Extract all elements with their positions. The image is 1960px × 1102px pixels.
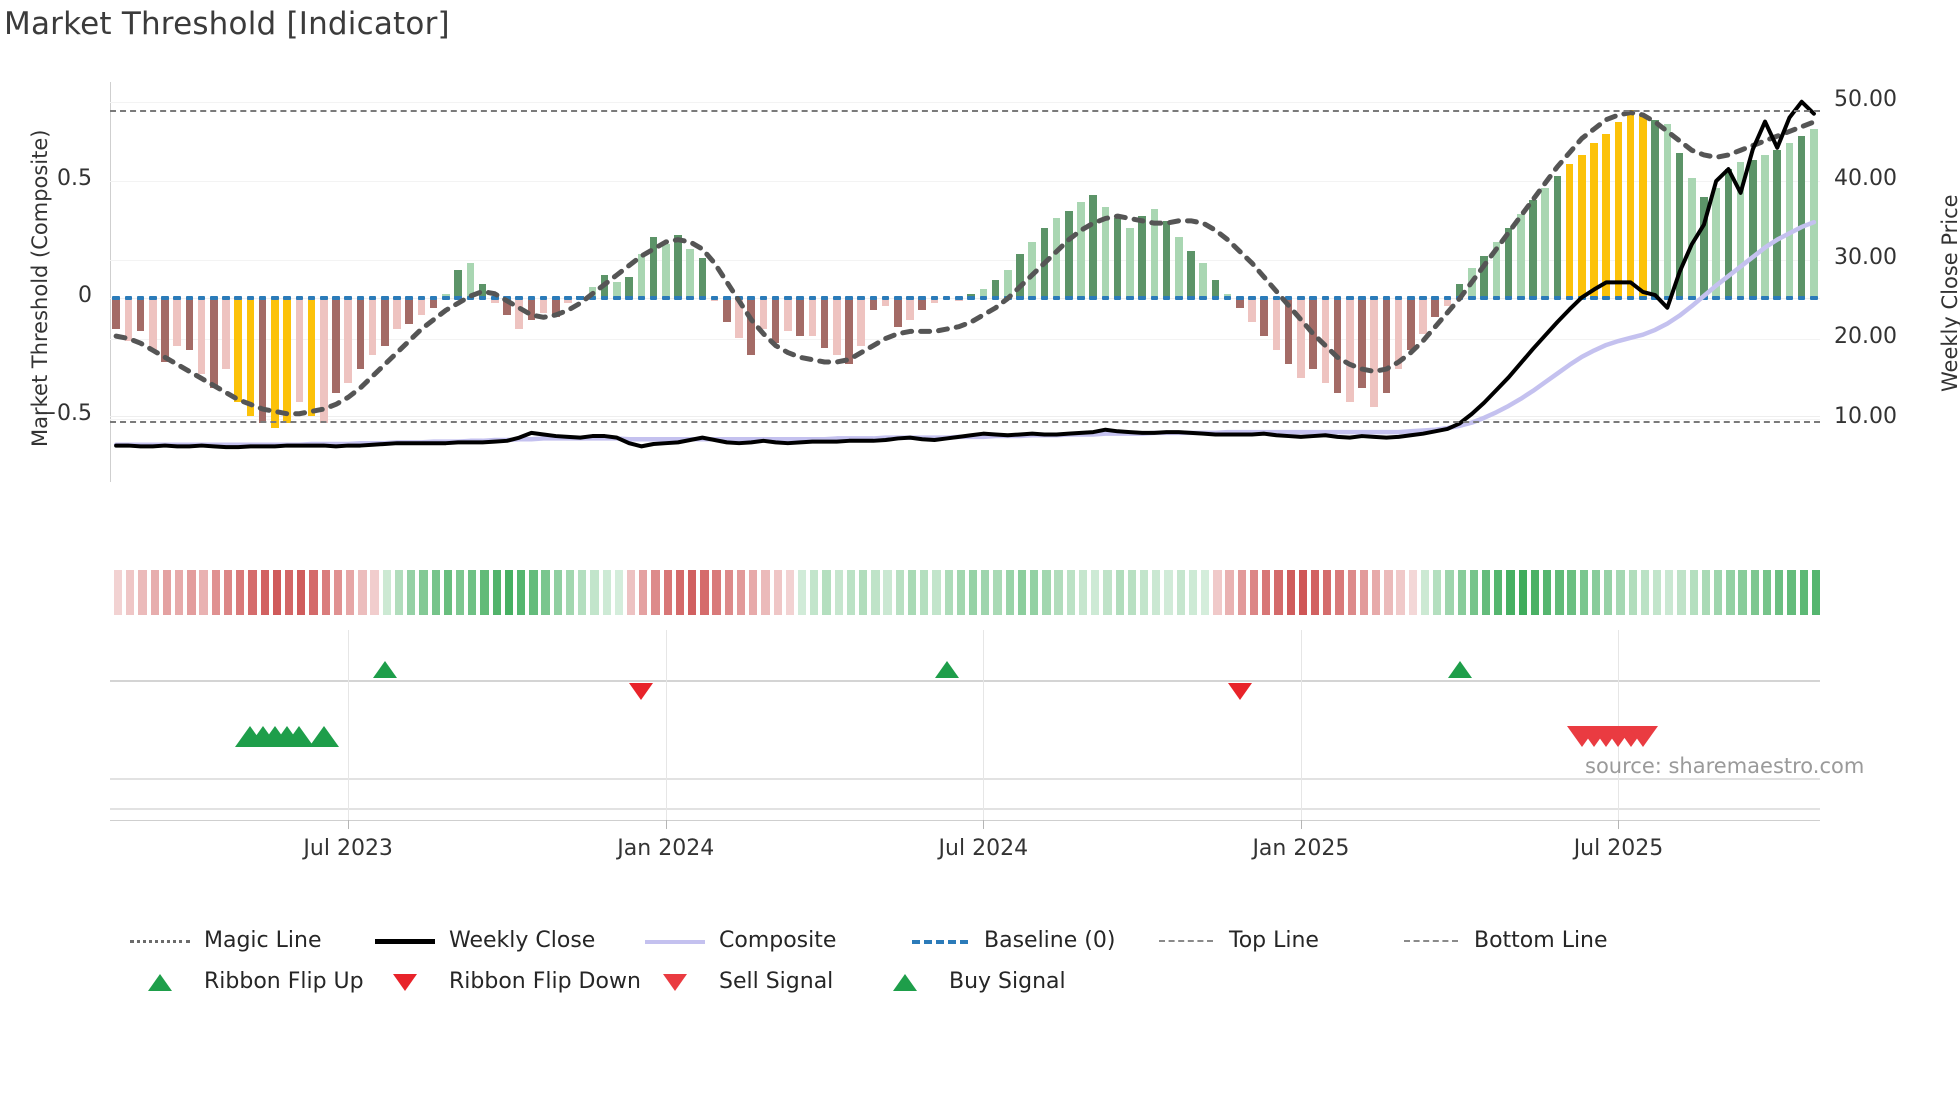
ribbon-cell <box>1604 570 1612 615</box>
ribbon-cell <box>541 570 549 615</box>
ribbon-cell <box>1372 570 1380 615</box>
legend-item[interactable]: Ribbon Flip Up <box>130 961 364 1002</box>
ribbon-cell <box>1018 570 1026 615</box>
ribbon-cell <box>1665 570 1673 615</box>
legend-label: Top Line <box>1229 928 1319 953</box>
ribbon-cell <box>1470 570 1478 615</box>
ribbon-cell <box>529 570 537 615</box>
ribbon-cell <box>1140 570 1148 615</box>
top-line <box>110 110 1820 112</box>
ribbon-cell <box>1653 570 1661 615</box>
ribbon-flip-down-marker <box>629 683 653 700</box>
ribbon-cell <box>224 570 232 615</box>
ribbon-cell <box>187 570 195 615</box>
ribbon-cell <box>1225 570 1233 615</box>
x-axis-line <box>110 820 1820 821</box>
signal-guide-line <box>110 680 1820 682</box>
ribbon-cell <box>1543 570 1551 615</box>
ribbon-cell <box>358 570 366 615</box>
ribbon-cell <box>273 570 281 615</box>
ribbon-cell <box>1409 570 1417 615</box>
x-gridline <box>983 630 984 820</box>
ribbon-cell <box>1763 570 1771 615</box>
ribbon-cell <box>725 570 733 615</box>
y-axis-right-tick-label: 20.00 <box>1834 324 1897 349</box>
ribbon-cell <box>932 570 940 615</box>
ribbon-cell <box>1006 570 1014 615</box>
ribbon-cell <box>1250 570 1258 615</box>
ribbon-cell <box>517 570 525 615</box>
triangle-up-icon <box>893 974 917 991</box>
legend-key <box>1400 931 1460 951</box>
legend-label: Baseline (0) <box>984 928 1115 953</box>
ribbon-cell <box>1677 570 1685 615</box>
ribbon-cell <box>1396 570 1404 615</box>
ribbon-cell <box>847 570 855 615</box>
ribbon-cell <box>444 570 452 615</box>
ribbon-cell <box>578 570 586 615</box>
triangle-down-icon <box>663 974 687 991</box>
ribbon-cell <box>822 570 830 615</box>
ribbon-cell <box>957 570 965 615</box>
ribbon-cell <box>1360 570 1368 615</box>
ribbon-cell <box>1726 570 1734 615</box>
legend-label: Ribbon Flip Down <box>449 969 641 994</box>
ribbon-cell <box>1054 570 1062 615</box>
ribbon-cell <box>969 570 977 615</box>
ribbon-cell <box>981 570 989 615</box>
ribbon-cell <box>1690 570 1698 615</box>
x-axis-tick <box>666 820 667 829</box>
dashed-line-icon <box>912 940 968 944</box>
ribbon-cell <box>151 570 159 615</box>
x-gridline <box>666 630 667 820</box>
ribbon-cell <box>334 570 342 615</box>
ribbon-cell <box>1335 570 1343 615</box>
ribbon-cell <box>505 570 513 615</box>
x-axis-tick-label: Jul 2025 <box>1574 836 1664 861</box>
ribbon-cell <box>896 570 904 615</box>
sell-signal-marker <box>1628 726 1658 747</box>
ribbon-cell <box>126 570 134 615</box>
ribbon-cell <box>651 570 659 615</box>
solid-line-icon <box>645 940 705 944</box>
ribbon-cell <box>468 570 476 615</box>
ribbon-cell <box>456 570 464 615</box>
ribbon-cell <box>1103 570 1111 615</box>
x-axis-tick <box>1301 820 1302 829</box>
ribbon-flip-up-marker <box>1448 661 1472 678</box>
ribbon-cell <box>1042 570 1050 615</box>
weekly-close-line <box>116 102 1814 447</box>
ribbon-cell <box>175 570 183 615</box>
x-axis-tick-label: Jan 2024 <box>617 836 714 861</box>
ribbon-cell <box>1531 570 1539 615</box>
ribbon-cell <box>1506 570 1514 615</box>
ribbon-cell <box>1030 570 1038 615</box>
ribbon-cell <box>1812 570 1820 615</box>
triangle-down-icon <box>393 974 417 991</box>
ribbon-cell <box>859 570 867 615</box>
ribbon-cell <box>1641 570 1649 615</box>
ribbon-cell <box>737 570 745 615</box>
ribbon-cell <box>1629 570 1637 615</box>
legend-item[interactable]: Weekly Close <box>375 920 595 961</box>
ribbon-cell <box>920 570 928 615</box>
ribbon-cell <box>1592 570 1600 615</box>
x-axis-tick <box>983 820 984 829</box>
legend-item[interactable]: Composite <box>645 920 836 961</box>
x-gridline <box>348 630 349 820</box>
ribbon-cell <box>114 570 122 615</box>
ribbon-cell <box>1311 570 1319 615</box>
ribbon-cell <box>1738 570 1746 615</box>
main-chart-plot <box>110 82 1820 482</box>
ribbon-cell <box>1714 570 1722 615</box>
ribbon-cell <box>1567 570 1575 615</box>
dashed-line-icon <box>1404 940 1458 942</box>
legend-item[interactable]: Buy Signal <box>875 961 1066 1002</box>
bottom-line <box>110 421 1820 423</box>
ribbon-cell <box>786 570 794 615</box>
ribbon-cell <box>566 570 574 615</box>
dashed-line-icon <box>1159 940 1213 942</box>
legend-item[interactable]: Bottom Line <box>1400 920 1608 961</box>
ribbon-cell <box>309 570 317 615</box>
ribbon-cell <box>1189 570 1197 615</box>
legend-key <box>1155 931 1215 951</box>
ribbon-cell <box>1213 570 1221 615</box>
ribbon-cell <box>1299 570 1307 615</box>
legend-key <box>375 931 435 951</box>
ribbon-cell <box>835 570 843 615</box>
ribbon-cell <box>1519 570 1527 615</box>
ribbon-cell <box>1152 570 1160 615</box>
ribbon-cell <box>383 570 391 615</box>
ribbon-cell <box>297 570 305 615</box>
ribbon-flip-up-marker <box>935 661 959 678</box>
signal-panel <box>110 630 1820 820</box>
chart-legend: Magic LineWeekly CloseCompositeBaseline … <box>130 920 1930 1002</box>
legend-key <box>645 972 705 992</box>
ribbon-cell <box>1800 570 1808 615</box>
ribbon-cell <box>1433 570 1441 615</box>
ribbon-cell <box>1238 570 1246 615</box>
ribbon-cell <box>248 570 256 615</box>
ribbon-cell <box>1580 570 1588 615</box>
ribbon-cell <box>1751 570 1759 615</box>
ribbon-cell <box>700 570 708 615</box>
x-axis-tick-label: Jul 2023 <box>303 836 393 861</box>
legend-row-lines: Magic LineWeekly CloseCompositeBaseline … <box>130 920 1930 961</box>
ribbon-cell <box>554 570 562 615</box>
y-axis-right-tick-label: 10.00 <box>1834 404 1897 429</box>
ribbon-cell <box>1287 570 1295 615</box>
ribbon-cell <box>603 570 611 615</box>
ribbon-cell <box>1787 570 1795 615</box>
ribbon-cell <box>1323 570 1331 615</box>
ribbon-cell <box>346 570 354 615</box>
x-axis-tick-label: Jan 2025 <box>1252 836 1349 861</box>
ribbon-cell <box>236 570 244 615</box>
ribbon-cell <box>590 570 598 615</box>
legend-key <box>875 972 935 992</box>
y-axis-right-tick-label: 30.00 <box>1834 245 1897 270</box>
ribbon-cell <box>1555 570 1563 615</box>
ribbon-cell <box>1616 570 1624 615</box>
ribbon-cell <box>749 570 757 615</box>
dotted-line-icon <box>130 940 190 943</box>
y-axis-left-tick-label: 0 <box>30 283 92 308</box>
legend-label: Composite <box>719 928 836 953</box>
ribbon-cell <box>761 570 769 615</box>
ribbon-cell <box>798 570 806 615</box>
y-axis-left-tick-label: −0.5 <box>30 401 92 426</box>
ribbon-cell <box>1775 570 1783 615</box>
ribbon-cell <box>1274 570 1282 615</box>
y-axis-right-title: Weekly Close Price <box>1938 194 1960 392</box>
ribbon-cell <box>1201 570 1209 615</box>
ribbon-cell <box>1262 570 1270 615</box>
legend-key <box>130 972 190 992</box>
ribbon-cell <box>1445 570 1453 615</box>
x-axis-tick <box>1618 820 1619 829</box>
ribbon-cell <box>1494 570 1502 615</box>
ribbon-cell <box>1482 570 1490 615</box>
magic-line <box>116 113 1814 414</box>
y-axis-left-tick-label: 0.5 <box>30 166 92 191</box>
ribbon-flip-up-marker <box>373 661 397 678</box>
ribbon-cell <box>1079 570 1087 615</box>
legend-label: Buy Signal <box>949 969 1066 994</box>
triangle-up-icon <box>148 974 172 991</box>
legend-label: Sell Signal <box>719 969 833 994</box>
x-axis-tick-label: Jul 2024 <box>939 836 1029 861</box>
ribbon-cell <box>1177 570 1185 615</box>
ribbon-cell <box>480 570 488 615</box>
ribbon-flip-down-marker <box>1228 683 1252 700</box>
signal-guide-line <box>110 778 1820 780</box>
solid-line-icon <box>375 939 435 944</box>
ribbon-cell <box>1348 570 1356 615</box>
ribbon-cell <box>212 570 220 615</box>
legend-key <box>910 931 970 951</box>
ribbon-cell <box>627 570 635 615</box>
page-title: Market Threshold [Indicator] <box>4 6 450 42</box>
ribbon-cell <box>407 570 415 615</box>
ribbon-cell <box>810 570 818 615</box>
ribbon-cell <box>676 570 684 615</box>
ribbon-cell <box>370 570 378 615</box>
legend-key <box>130 931 190 951</box>
ribbon-cell <box>163 570 171 615</box>
ribbon-cell <box>639 570 647 615</box>
ribbon-cell <box>138 570 146 615</box>
legend-label: Magic Line <box>204 928 321 953</box>
ribbon-cell <box>1164 570 1172 615</box>
ribbon-cell <box>1702 570 1710 615</box>
legend-label: Weekly Close <box>449 928 595 953</box>
signal-guide-line <box>110 808 1820 810</box>
legend-item[interactable]: Sell Signal <box>645 961 833 1002</box>
ribbon-cell <box>419 570 427 615</box>
ribbon-cell <box>945 570 953 615</box>
source-attribution: source: sharemaestro.com <box>1585 754 1864 778</box>
ribbon-cell <box>615 570 623 615</box>
x-axis: Jul 2023Jan 2024Jul 2024Jan 2025Jul 2025 <box>110 820 1820 890</box>
legend-label: Bottom Line <box>1474 928 1608 953</box>
ribbon-cell <box>285 570 293 615</box>
buy-signal-marker <box>309 726 339 747</box>
ribbon-cell <box>688 570 696 615</box>
ribbon-cell <box>1067 570 1075 615</box>
legend-item[interactable]: Ribbon Flip Down <box>375 961 641 1002</box>
legend-key <box>645 931 705 951</box>
ribbon-cell <box>1421 570 1429 615</box>
x-gridline <box>1618 630 1619 820</box>
ribbon-cell <box>493 570 501 615</box>
ribbon-cell <box>395 570 403 615</box>
legend-item[interactable]: Magic Line <box>130 920 321 961</box>
x-axis-tick <box>348 820 349 829</box>
composite-line <box>116 222 1814 445</box>
ribbon-cell <box>1091 570 1099 615</box>
ribbon-cell <box>322 570 330 615</box>
ribbon-cell <box>199 570 207 615</box>
ribbon-cell <box>261 570 269 615</box>
legend-item[interactable]: Baseline (0) <box>910 920 1115 961</box>
y-axis-right-tick-label: 40.00 <box>1834 166 1897 191</box>
ribbon-cell <box>712 570 720 615</box>
ribbon-cell <box>1116 570 1124 615</box>
legend-row-markers: Ribbon Flip UpRibbon Flip DownSell Signa… <box>130 961 1930 1002</box>
ribbon-cell <box>774 570 782 615</box>
ribbon-cell <box>432 570 440 615</box>
ribbon-cell <box>1128 570 1136 615</box>
momentum-ribbon <box>112 570 1822 615</box>
ribbon-cell <box>993 570 1001 615</box>
ribbon-cell <box>908 570 916 615</box>
ribbon-cell <box>664 570 672 615</box>
ribbon-cell <box>1384 570 1392 615</box>
y-axis-right-tick-label: 50.00 <box>1834 87 1897 112</box>
legend-item[interactable]: Top Line <box>1155 920 1319 961</box>
legend-label: Ribbon Flip Up <box>204 969 364 994</box>
ribbon-cell <box>1458 570 1466 615</box>
ribbon-cell <box>883 570 891 615</box>
x-gridline <box>1301 630 1302 820</box>
ribbon-cell <box>871 570 879 615</box>
legend-key <box>375 972 435 992</box>
